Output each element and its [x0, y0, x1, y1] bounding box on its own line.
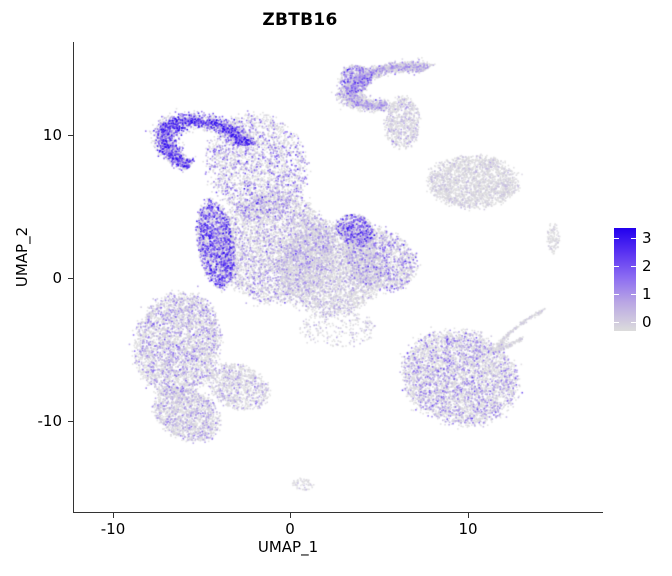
x-tick-label-10: 10	[438, 520, 498, 538]
colorbar-tick-0-right	[631, 322, 636, 323]
colorbar-tick-1-left	[614, 294, 619, 295]
colorbar-gradient	[614, 228, 636, 331]
x-tick-mark-10	[468, 513, 469, 518]
y-tick-mark-10	[68, 135, 73, 136]
x-tick-label-0: 0	[260, 520, 320, 538]
x-axis-title: UMAP_1	[73, 538, 503, 556]
colorbar-tick-1-right	[631, 294, 636, 295]
y-tick-mark-neg10	[68, 421, 73, 422]
page-title: ZBTB16	[0, 10, 600, 30]
x-tick-mark-neg10	[113, 513, 114, 518]
colorbar-label-3: 3	[642, 229, 652, 247]
y-tick-label-10: 10	[24, 126, 62, 144]
y-axis-title: UMAP_2	[13, 187, 31, 327]
colorbar-tick-3-right	[631, 238, 636, 239]
colorbar-label-0: 0	[642, 313, 652, 331]
colorbar-tick-2-right	[631, 266, 636, 267]
colorbar-label-2: 2	[642, 257, 652, 275]
colorbar-tick-2-left	[614, 266, 619, 267]
umap-feature-plot: ZBTB16 10 0 -10 -10 0 10 UMAP_1 UMAP_2 3…	[0, 0, 672, 576]
colorbar-label-1: 1	[642, 285, 652, 303]
colorbar-legend: 3 2 1 0	[614, 228, 636, 331]
colorbar-tick-3-left	[614, 238, 619, 239]
x-tick-label-neg10: -10	[83, 520, 143, 538]
y-axis-line	[73, 42, 74, 513]
x-tick-mark-0	[290, 513, 291, 518]
x-axis-line	[73, 512, 603, 513]
colorbar-tick-0-left	[614, 322, 619, 323]
y-tick-label-neg10: -10	[18, 412, 62, 430]
y-tick-mark-0	[68, 278, 73, 279]
scatter-canvas	[73, 42, 603, 513]
